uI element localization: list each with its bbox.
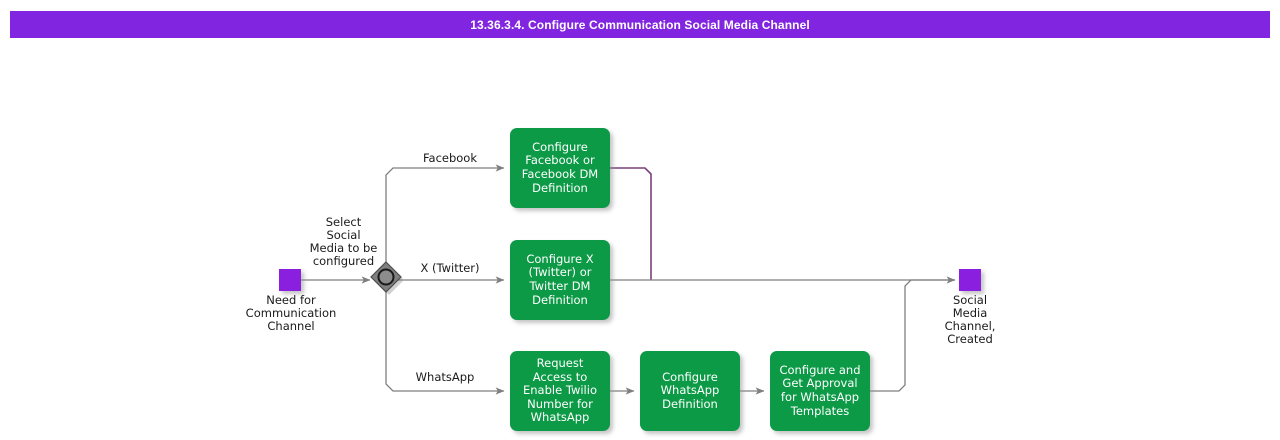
branch-label-facebook: Facebook (400, 152, 500, 165)
task-approve-whatsapp-templates[interactable]: Configure and Get Approval for WhatsApp … (770, 351, 870, 431)
start-event-label: Need for Communication Channel (221, 294, 361, 333)
task-configure-twitter[interactable]: Configure X (Twitter) or Twitter DM Defi… (510, 240, 610, 320)
start-event-shape[interactable] (279, 269, 301, 291)
task-request-twilio-number[interactable]: Request Access to Enable Twilio Number f… (510, 351, 610, 431)
task-configure-facebook[interactable]: Configure Facebook or Facebook DM Defini… (510, 128, 610, 208)
task-configure-whatsapp[interactable]: Configure WhatsApp Definition (640, 351, 740, 431)
flow-facebook-to-end (610, 168, 651, 280)
gateway-label: Select Social Media to be configured (292, 216, 395, 268)
end-event-label: Social Media Channel, Created (915, 294, 1025, 346)
end-event-shape[interactable] (959, 269, 981, 291)
branch-label-twitter: X (Twitter) (400, 262, 500, 275)
process-diagram: Need for Communication Channel Select So… (0, 0, 1280, 440)
branch-label-whatsapp: WhatsApp (395, 371, 495, 384)
